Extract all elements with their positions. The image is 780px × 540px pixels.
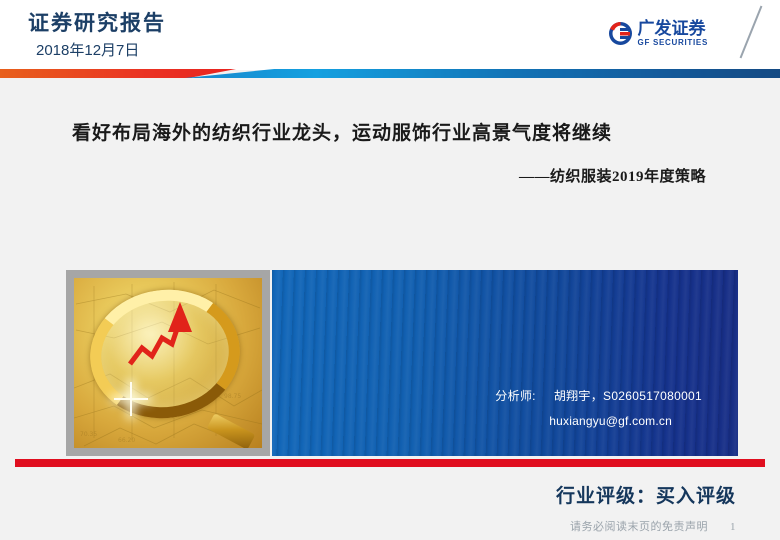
analyst-email[interactable]: huxiangyu@gf.com.cn xyxy=(495,414,702,428)
header-divider-ribbon xyxy=(0,69,780,78)
red-up-arrow-icon xyxy=(126,298,206,378)
brand-name-cn: 广发证券 xyxy=(638,20,708,37)
svg-text:66.20: 66.20 xyxy=(118,437,135,444)
report-kind-label: 证券研究报告 xyxy=(28,12,166,35)
cover-visual-row: 70.35 66.20 98.75 分析师:胡翔宇，S0260517080001 xyxy=(66,270,738,456)
analyst-label: 分析师: xyxy=(495,389,536,403)
page-title: 看好布局海外的纺织行业龙头，运动服饰行业高景气度将继续 xyxy=(0,118,780,145)
footer-disclaimer: 请务必阅读末页的免责声明1 xyxy=(570,518,736,534)
industry-rating-label: 行业评级：买入评级 xyxy=(556,481,736,508)
decorative-slash-icon xyxy=(740,6,763,59)
analyst-name-and-code: 胡翔宇，S0260517080001 xyxy=(554,389,702,403)
gf-logo-icon xyxy=(608,21,633,46)
cover-photo-frame: 70.35 66.20 98.75 xyxy=(66,270,270,456)
title-zone: 看好布局海外的纺织行业龙头，运动服饰行业高景气度将继续 ——纺织服装2019年度… xyxy=(0,118,780,186)
brand-name-en: GF SECURITIES xyxy=(638,39,708,47)
lens-sparkle-icon xyxy=(114,382,148,416)
page-number: 1 xyxy=(730,521,736,533)
brand-logo: 广发证券 GF SECURITIES xyxy=(608,20,708,47)
analyst-info-block: 分析师:胡翔宇，S0260517080001 huxiangyu@gf.com.… xyxy=(495,387,702,428)
magnifying-glass-over-stock-chart-image: 70.35 66.20 98.75 xyxy=(74,278,262,448)
analyst-name-line: 分析师:胡翔宇，S0260517080001 xyxy=(495,387,702,404)
header-title-block: 证券研究报告 2018年12月7日 xyxy=(28,12,166,60)
page-subtitle: ——纺织服装2019年度策略 xyxy=(0,165,780,186)
bottom-red-bar xyxy=(15,459,765,467)
disclaimer-text: 请务必阅读末页的免责声明 xyxy=(570,521,708,533)
divider-blue-segment xyxy=(185,69,780,78)
brand-logo-text: 广发证券 GF SECURITIES xyxy=(638,20,708,47)
slide-cover: 证券研究报告 2018年12月7日 广发证券 GF SECURITIES xyxy=(0,0,780,540)
cover-blue-panel: 分析师:胡翔宇，S0260517080001 huxiangyu@gf.com.… xyxy=(272,270,738,456)
report-date-label: 2018年12月7日 xyxy=(36,39,166,60)
header-band: 证券研究报告 2018年12月7日 广发证券 GF SECURITIES xyxy=(0,0,780,70)
svg-text:70.35: 70.35 xyxy=(80,431,97,438)
svg-text:98.75: 98.75 xyxy=(224,393,241,400)
